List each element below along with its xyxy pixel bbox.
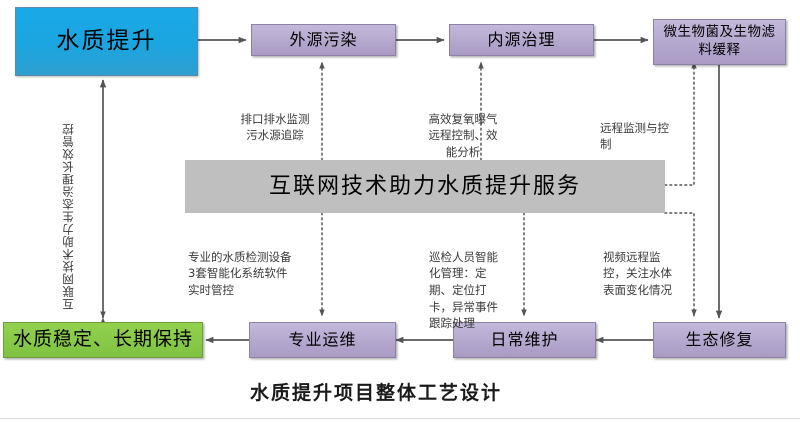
node-result[interactable]: 水质稳定、长期保持	[3, 322, 203, 358]
node-internal-treatment-label: 内源治理	[487, 31, 555, 49]
note-remote-monitoring: 远程监测与控 制	[600, 103, 686, 153]
node-eco-restoration-label: 生态修复	[685, 331, 753, 349]
node-daily-maintenance-label: 日常维护	[490, 331, 558, 349]
bottom-divider	[0, 418, 800, 419]
node-source-label: 水质提升	[57, 28, 157, 54]
node-external-pollution-label: 外源污染	[289, 31, 357, 49]
node-microbe-release-label: 微生物菌及生物滤料缓释	[658, 24, 781, 59]
node-internal-treatment[interactable]: 内源治理	[449, 24, 594, 56]
vertical-axis-label: 互联网技术助力生态治理长效管控	[60, 78, 76, 310]
note-inspector-management-text: 巡检人员智能 化管理：定 期、定位打 卡，异常事件 跟踪处理	[429, 250, 498, 331]
note-aeration-control: 高效复氧曝气 远程控制、效 能分析	[418, 94, 508, 161]
diagram-canvas: 水质提升 外源污染 内源治理 微生物菌及生物滤料缓释 互联网技术助力水质提升服务…	[0, 0, 800, 426]
node-external-pollution[interactable]: 外源污染	[251, 24, 396, 56]
node-professional-ops[interactable]: 专业运维	[249, 322, 396, 358]
note-aeration-control-text: 高效复氧曝气 远程控制、效 能分析	[429, 112, 498, 159]
service-banner: 互联网技术助力水质提升服务	[185, 160, 665, 213]
node-eco-restoration[interactable]: 生态修复	[653, 322, 786, 358]
diagram-caption: 水质提升项目整体工艺设计	[250, 378, 502, 405]
diagram-caption-text: 水质提升项目整体工艺设计	[250, 382, 502, 404]
note-video-monitoring-text: 视频远程监 控，关注水体 表面变化情况	[603, 250, 672, 297]
node-microbe-release[interactable]: 微生物菌及生物滤料缓释	[653, 19, 786, 65]
note-outfall-monitoring: 排口排水监测 污水源追踪	[229, 94, 321, 144]
note-video-monitoring: 视频远程监 控，关注水体 表面变化情况	[603, 232, 687, 299]
service-banner-label: 互联网技术助力水质提升服务	[269, 174, 581, 199]
note-detection-equipment: 专业的水质检测设备 3套智能化系统软件 实时管控	[188, 232, 316, 299]
vertical-axis-label-text: 互联网技术助力生态治理长效管控	[61, 123, 75, 311]
note-outfall-monitoring-text: 排口排水监测 污水源追踪	[241, 112, 310, 143]
note-remote-monitoring-text: 远程监测与控 制	[600, 121, 669, 152]
node-professional-ops-label: 专业运维	[288, 331, 356, 349]
node-source[interactable]: 水质提升	[15, 7, 198, 76]
note-detection-equipment-text: 专业的水质检测设备 3套智能化系统软件 实时管控	[188, 250, 292, 297]
note-inspector-management: 巡检人员智能 化管理：定 期、定位打 卡，异常事件 跟踪处理	[429, 232, 515, 332]
node-result-label: 水质稳定、长期保持	[13, 329, 193, 351]
